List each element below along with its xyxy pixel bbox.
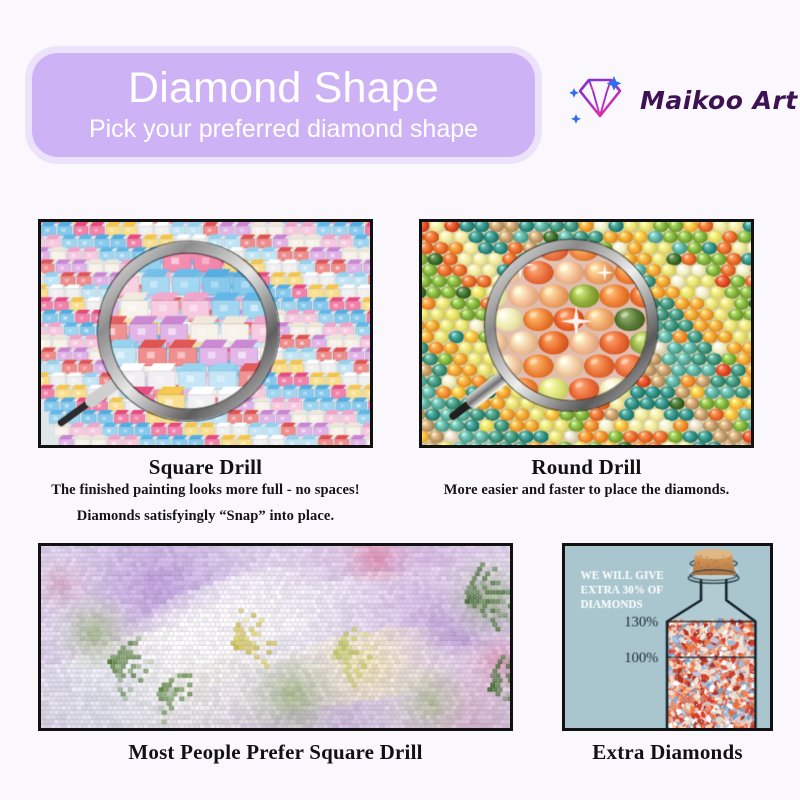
- most-people-prefer-image: [38, 543, 513, 731]
- square-drill-canvas: [41, 222, 370, 445]
- finished-painting-canvas: [41, 546, 510, 728]
- brand-logo: Maikoo Art: [566, 69, 788, 131]
- diamond-bottle-canvas: [565, 546, 770, 728]
- round-drill-image: [419, 219, 754, 448]
- page-title: Diamond Shape: [128, 66, 439, 111]
- round-drill-desc-line-1: More easier and faster to place the diam…: [404, 482, 769, 499]
- square-drill-desc-line-1: The finished painting looks more full - …: [8, 482, 403, 499]
- extra-diamonds-image: [562, 543, 773, 731]
- brand-name: Maikoo Art: [640, 86, 798, 115]
- round-drill-title: Round Drill: [419, 455, 754, 480]
- square-drill-title: Square Drill: [38, 455, 373, 480]
- diamond-icon: [566, 70, 630, 130]
- promo-page: Diamond Shape Pick your preferred diamon…: [0, 0, 800, 800]
- square-drill-desc-line-2: Diamonds satisfyingly “Snap” into place.: [8, 508, 403, 525]
- square-drill-image: [38, 219, 373, 448]
- most-people-prefer-title: Most People Prefer Square Drill: [38, 740, 513, 765]
- page-subtitle: Pick your preferred diamond shape: [89, 115, 478, 144]
- extra-diamonds-title: Extra Diamonds: [562, 740, 773, 765]
- header-banner: Diamond Shape Pick your preferred diamon…: [32, 53, 535, 157]
- round-drill-canvas: [422, 222, 751, 445]
